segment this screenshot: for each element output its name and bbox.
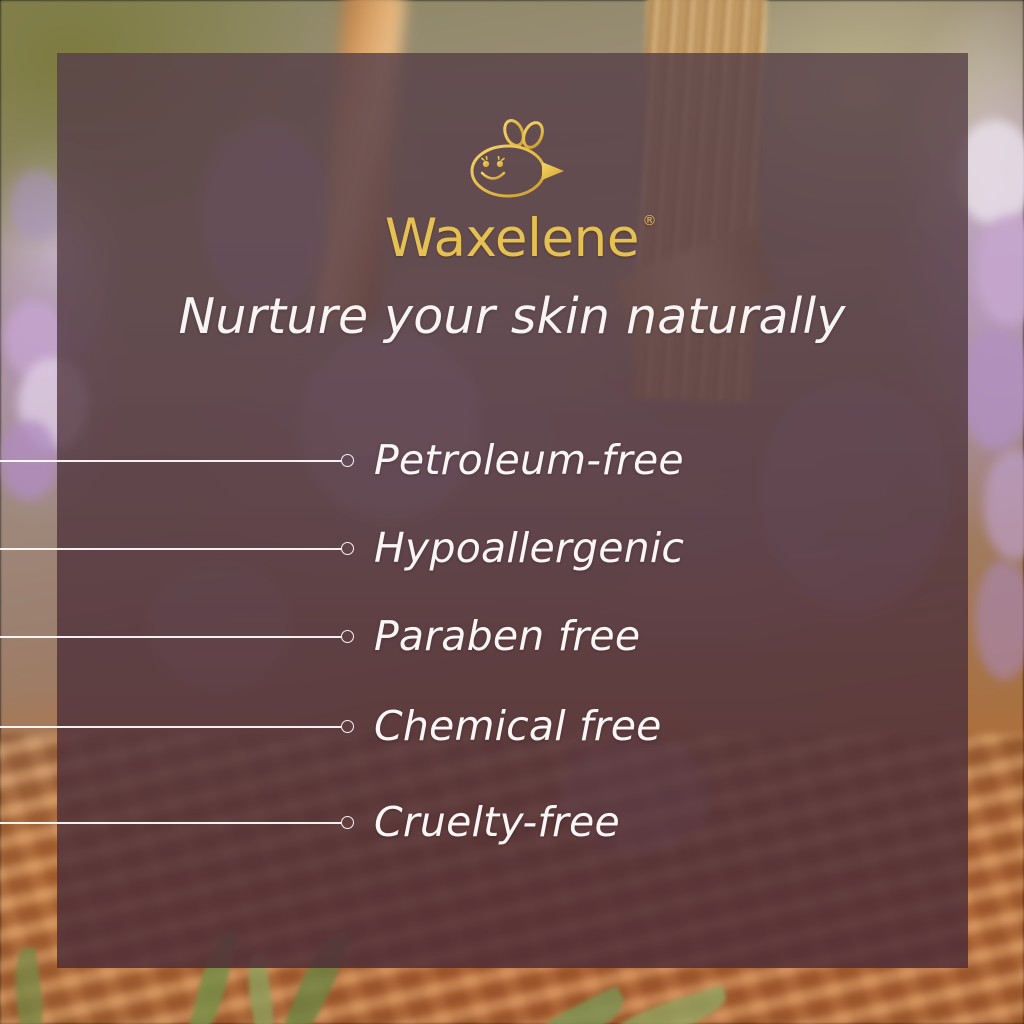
brand-name: Waxelene xyxy=(385,208,639,269)
lavender-floret xyxy=(975,560,1024,680)
feature-label: Hypoallergenic xyxy=(374,524,684,572)
advertisement-image: Waxelene® Nurture your skin naturally Pe… xyxy=(0,0,1024,1024)
feature-connector-line xyxy=(0,636,341,638)
feature-label: Cruelty-free xyxy=(374,798,620,846)
feature-connector-line xyxy=(0,726,341,728)
feature-label: Chemical free xyxy=(374,702,662,750)
brand-wordmark: Waxelene® xyxy=(385,212,639,265)
feature-connector-line xyxy=(0,822,341,824)
registered-trademark-icon: ® xyxy=(642,214,656,228)
feature-bullet-icon xyxy=(341,630,354,643)
bee-icon xyxy=(458,118,566,206)
feature-connector-line xyxy=(0,460,341,462)
feature-label: Petroleum-free xyxy=(374,436,684,484)
lavender-floret xyxy=(960,330,1024,450)
tagline: Nurture your skin naturally xyxy=(0,288,1024,345)
feature-bullet-icon xyxy=(341,816,354,829)
brand-logo: Waxelene® xyxy=(0,118,1024,265)
feature-bullet-icon xyxy=(341,454,354,467)
feature-connector-line xyxy=(0,548,341,550)
feature-label: Paraben free xyxy=(374,612,640,660)
feature-bullet-icon xyxy=(341,720,354,733)
feature-bullet-icon xyxy=(341,542,354,555)
